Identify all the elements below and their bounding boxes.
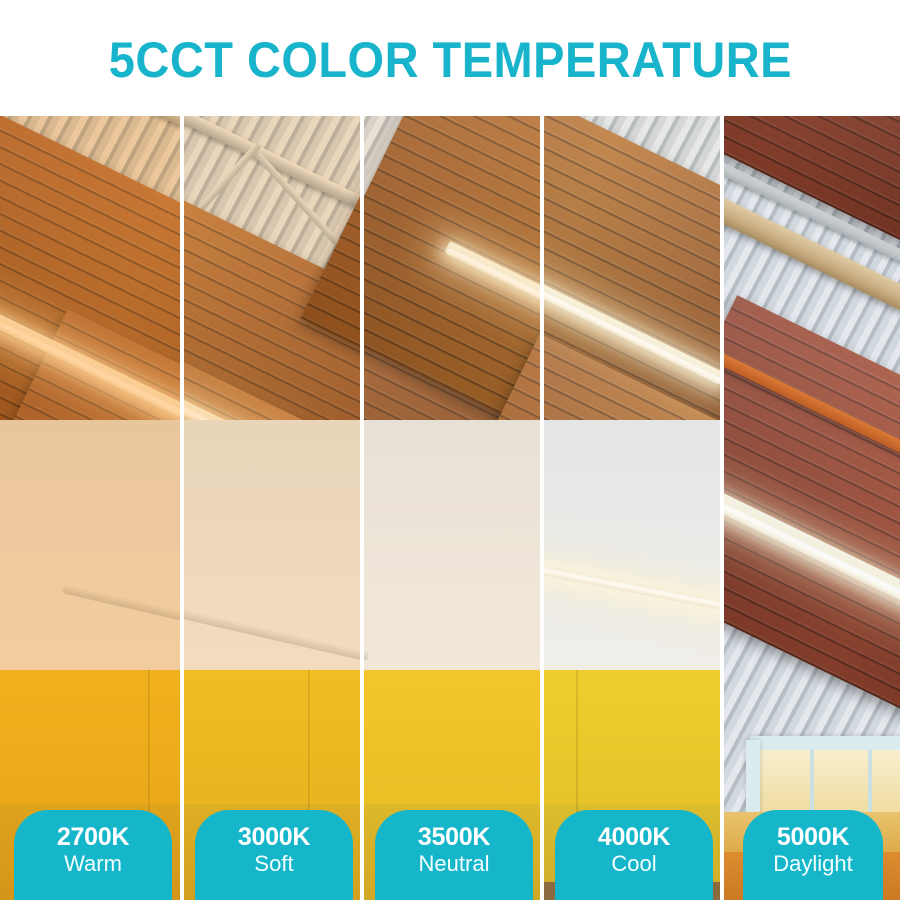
badge-name: Cool — [611, 851, 656, 877]
panel-2700k[interactable]: 2700K Warm — [0, 116, 180, 900]
badge-kelvin: 2700K — [57, 824, 129, 850]
panel-3500k[interactable]: 3500K Neutral — [360, 116, 540, 900]
panel-strip: 2700K Warm — [0, 116, 900, 900]
badge-4000k[interactable]: 4000K Cool — [555, 810, 713, 900]
photo-window — [180, 116, 360, 900]
badge-name: Warm — [64, 851, 122, 877]
badge-3500k[interactable]: 3500K Neutral — [375, 810, 533, 900]
ceiling-photo — [180, 116, 360, 900]
badge-name: Neutral — [419, 851, 490, 877]
yellow-wall-upper — [540, 670, 720, 804]
yellow-wall-upper — [180, 670, 360, 804]
ceiling-photo — [0, 116, 180, 900]
panel-3000k[interactable]: 3000K Soft — [180, 116, 360, 900]
badge-3000k[interactable]: 3000K Soft — [195, 810, 353, 900]
header-bar: 5CCT COLOR TEMPERATURE — [0, 0, 900, 116]
badge-kelvin: 3000K — [238, 824, 310, 850]
badge-name: Soft — [254, 851, 293, 877]
ceiling-photo — [360, 116, 540, 900]
badge-name: Daylight — [773, 851, 852, 877]
photo-window — [540, 116, 720, 900]
ceiling-photo — [720, 116, 900, 900]
upper-wall — [360, 420, 540, 670]
page-title: 5CCT COLOR TEMPERATURE — [108, 31, 791, 85]
photo-window — [360, 116, 540, 900]
color-temperature-comparison-graphic: 5CCT COLOR TEMPERATURE — [0, 0, 900, 900]
photo-window — [0, 116, 180, 900]
panel-4000k[interactable]: 4000K Cool — [540, 116, 720, 900]
badge-kelvin: 5000K — [777, 824, 849, 850]
yellow-wall-upper — [360, 670, 540, 804]
badge-5000k[interactable]: 5000K Daylight — [743, 810, 883, 900]
badge-2700k[interactable]: 2700K Warm — [14, 810, 172, 900]
upper-wall — [0, 420, 180, 670]
window-head-frame — [750, 736, 900, 750]
panel-5000k[interactable]: 5000K Daylight — [720, 116, 900, 900]
photo-window — [720, 116, 900, 900]
ceiling-photo — [540, 116, 720, 900]
yellow-wall-upper — [0, 670, 180, 804]
badge-kelvin: 4000K — [598, 824, 670, 850]
upper-wall — [540, 420, 720, 670]
badge-kelvin: 3500K — [418, 824, 490, 850]
